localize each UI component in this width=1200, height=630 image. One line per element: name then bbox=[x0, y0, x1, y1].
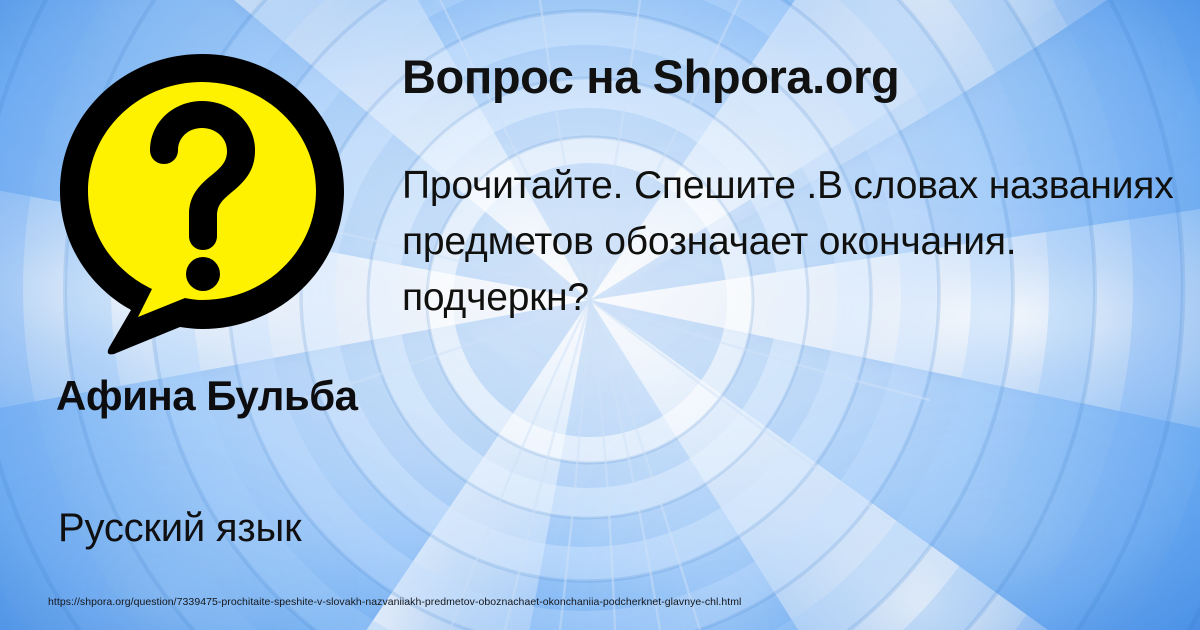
question-mark-dot bbox=[186, 257, 220, 291]
page-title: Вопрос на Shpora.org bbox=[402, 52, 1200, 102]
source-url[interactable]: https://shpora.org/question/7339475-proc… bbox=[48, 596, 741, 608]
question-text: Прочитайте. Спешите .В словах названиях … bbox=[402, 158, 1200, 326]
share-card: Вопрос на Shpora.org Прочитайте. Спешите… bbox=[0, 0, 1200, 630]
question-speech-bubble-icon bbox=[52, 46, 352, 361]
speech-bubble-svg bbox=[52, 46, 352, 361]
subject-label: Русский язык bbox=[58, 506, 418, 550]
author-name: Афина Бульба bbox=[56, 374, 386, 419]
